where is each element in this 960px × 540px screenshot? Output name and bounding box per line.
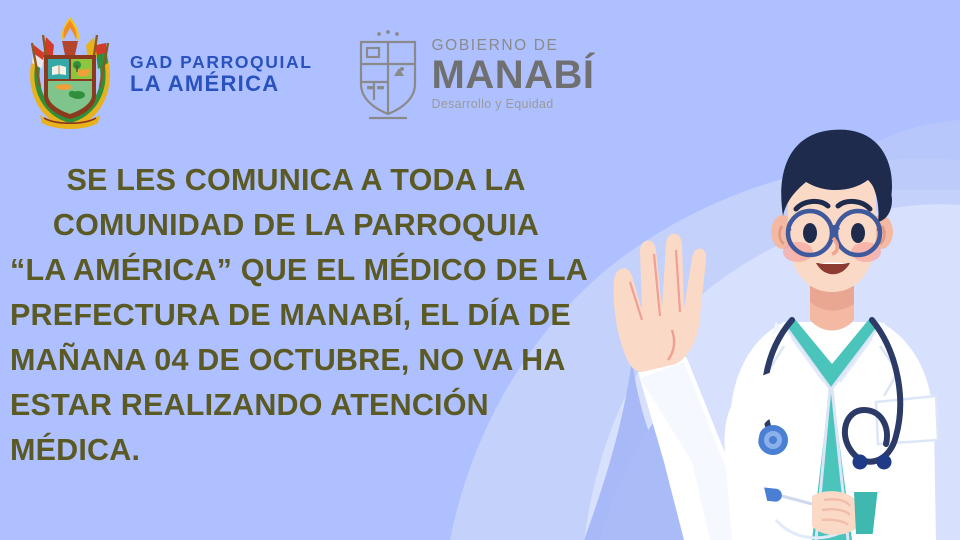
poster-canvas: GAD PARROQUIAL LA AMÉRICA <box>0 0 960 540</box>
manabi-logo-text: GOBIERNO DE MANABÍ Desarrollo y Equidad <box>432 38 595 110</box>
manabi-logo-tagline: Desarrollo y Equidad <box>432 98 595 111</box>
manabi-shield-icon <box>355 26 421 122</box>
message-line-7: MÉDICA. <box>10 428 660 473</box>
message-line-3: “LA AMÉRICA” QUE EL MÉDICO DE LA <box>10 248 660 293</box>
message-line-2: COMUNIDAD DE LA PARROQUIA <box>10 203 660 248</box>
message-line-1: SE LES COMUNICA A TODA LA <box>10 158 660 203</box>
gad-parroquial-logo: GAD PARROQUIAL LA AMÉRICA <box>18 15 313 133</box>
gad-logo-line1: GAD PARROQUIAL <box>130 53 313 72</box>
gobierno-manabi-logo: GOBIERNO DE MANABÍ Desarrollo y Equidad <box>355 26 595 122</box>
message-line-5: MAÑANA 04 DE OCTUBRE, NO VA HA <box>10 338 660 383</box>
message-line-6: ESTAR REALIZANDO ATENCIÓN <box>10 383 660 428</box>
la-america-coat-of-arms-icon <box>18 15 122 133</box>
header-logo-bar: GAD PARROQUIAL LA AMÉRICA <box>0 14 640 134</box>
gad-logo-text: GAD PARROQUIAL LA AMÉRICA <box>130 53 313 96</box>
gad-logo-line2: LA AMÉRICA <box>130 72 313 96</box>
manabi-logo-line2: MANABÍ <box>432 55 595 95</box>
message-line-4: PREFECTURA DE MANABÍ, EL DÍA DE <box>10 293 660 338</box>
manabi-logo-line1: GOBIERNO DE <box>432 38 595 54</box>
announcement-text: SE LES COMUNICA A TODA LA COMUNIDAD DE L… <box>10 158 660 473</box>
